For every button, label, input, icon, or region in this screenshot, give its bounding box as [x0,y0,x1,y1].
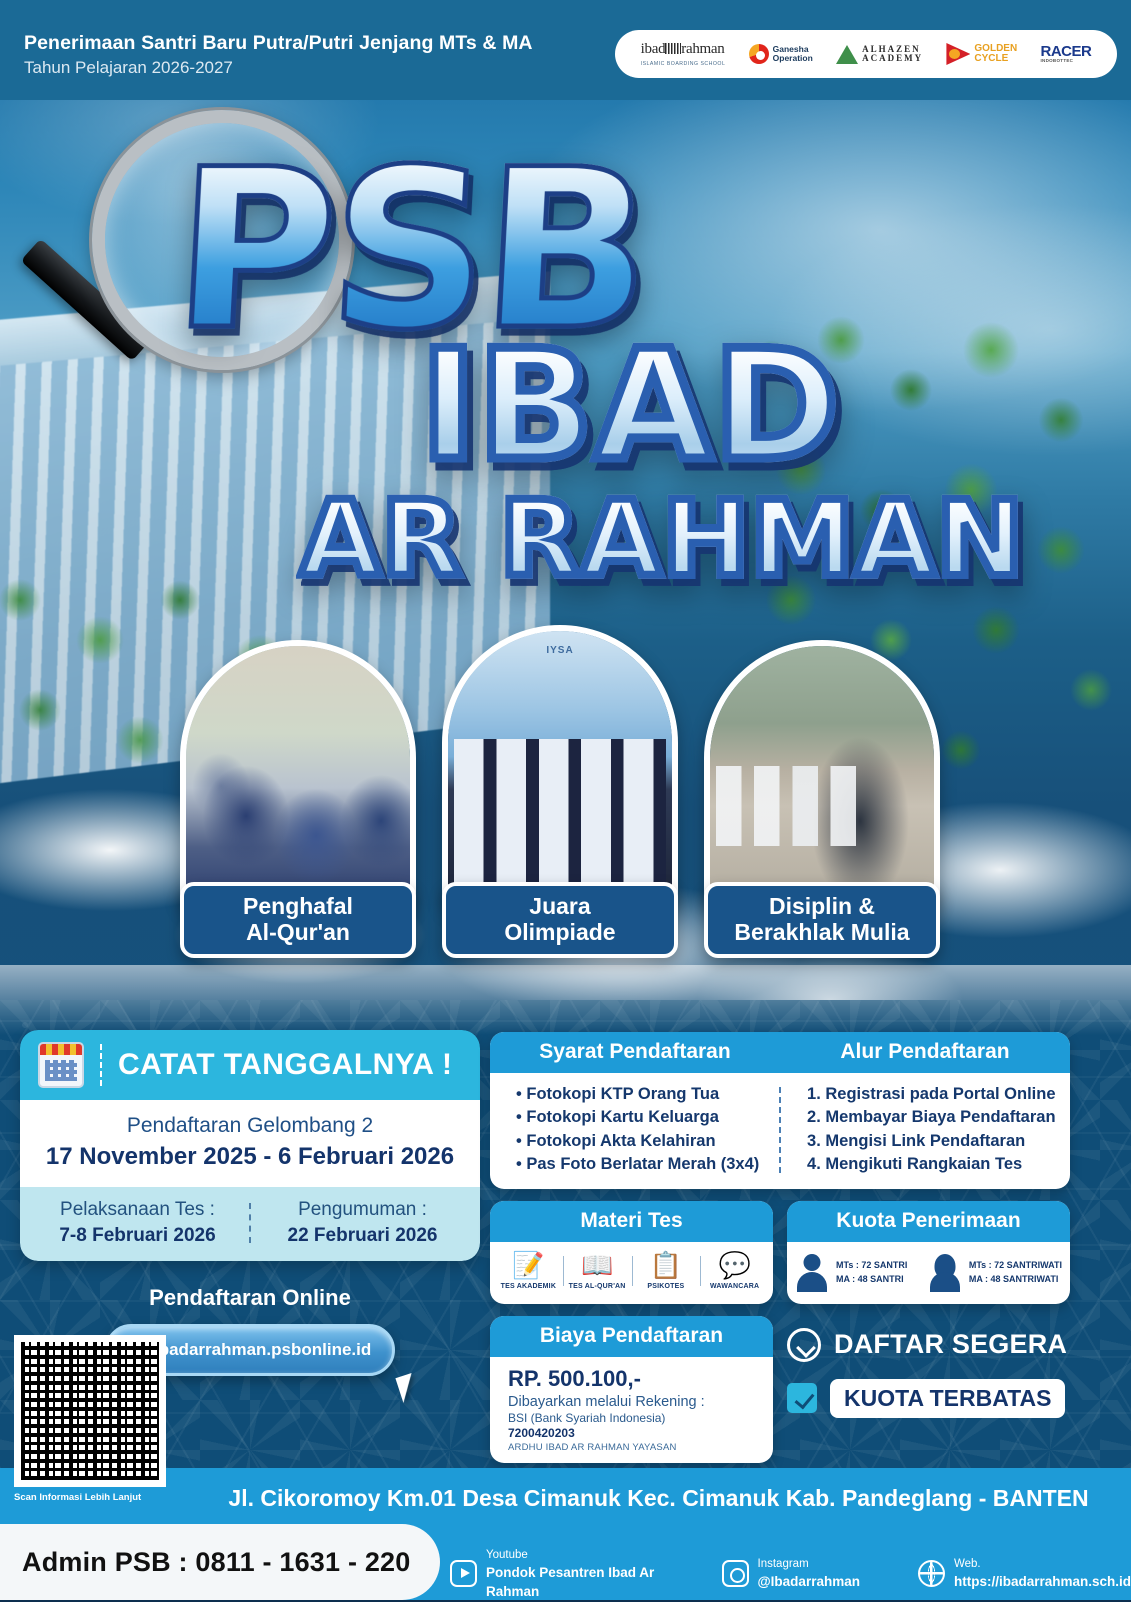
poster-root: Penerimaan Santri Baru Putra/Putri Jenja… [0,0,1131,1600]
youtube-icon [450,1560,477,1587]
male-avatar-icon [795,1254,829,1292]
biaya-pendaftaran-card: Biaya Pendaftaran RP. 500.100,- Dibayark… [490,1316,773,1463]
syarat-alur-card: Syarat Pendaftaran Alur Pendaftaran Foto… [490,1032,1070,1189]
logo-ibad-ar-rahman: ibadrahman ISLAMIC BOARDING SCHOOL [641,41,726,67]
header-subtitle: Tahun Pelajaran 2026-2027 [24,58,533,78]
syarat-alur-body: Fotokopi KTP Orang Tua Fotokopi Kartu Ke… [490,1073,1070,1189]
hero-arrahman-title: AR RAHMAN [300,487,1024,591]
kuota-putra-mts: MTs : 72 SANTRI [836,1260,907,1270]
social-value: Pondok Pesantren Ibad Ar Rahman [486,1565,654,1599]
social-label: Instagram [758,1558,809,1570]
logo-ibad-sub: ISLAMIC BOARDING SCHOOL [641,61,726,67]
logo-golden-sub: CYCLE [974,54,1017,64]
kuota-putri-mts: MTs : 72 SANTRIWATI [969,1260,1062,1270]
list-item: Fotokopi KTP Orang Tua [516,1083,779,1106]
gelombang-label: Pendaftaran Gelombang 2 [30,1114,470,1138]
biaya-via: Dibayarkan melalui Rekening : [508,1394,773,1410]
announcement-date: 22 Februari 2026 [251,1225,474,1247]
materi-tes-title: Materi Tes [490,1201,773,1242]
card-photo: IYSA [442,625,678,910]
card-caption: Disiplin & Berakhlak Mulia [704,882,940,958]
catat-schedule: Pelaksanaan Tes : 7-8 Februari 2026 Peng… [20,1187,480,1261]
social-youtube[interactable]: Youtube Pondok Pesantren Ibad Ar Rahman [450,1545,664,1602]
daftar-segera-label: DAFTAR SEGERA [834,1329,1067,1360]
quran-book-icon: 📖 [563,1252,632,1278]
logo-ibad-wordmark: ibadrahman [641,41,726,58]
catat-header: CATAT TANGGALNYA ! [20,1030,480,1100]
card-caption-line1: Penghafal [243,893,353,919]
card-photo [704,640,940,910]
materi-item-label: PSIKOTES [632,1283,701,1290]
materi-kuota-row: Materi Tes 📝 TES AKADEMIK 📖 TES AL-QUR'A… [490,1201,1070,1304]
announcement-schedule: Pengumuman : 22 Februari 2026 [251,1199,474,1247]
kuota-putri: MTs : 72 SANTRIWATI MA : 48 SANTRIWATI [928,1254,1062,1292]
instagram-icon [722,1560,749,1587]
daftar-segera-cta[interactable]: DAFTAR SEGERA [787,1328,1070,1362]
syarat-alur-header: Syarat Pendaftaran Alur Pendaftaran [490,1032,1070,1073]
catat-period: Pendaftaran Gelombang 2 17 November 2025… [20,1100,480,1187]
logo-alhazen-academy: ALHAZEN ACADEMY [836,45,923,64]
list-item: Registrasi pada Portal Online [807,1083,1070,1106]
calendar-icon [38,1042,84,1088]
highlight-card: IYSA Juara Olimpiade [442,625,678,958]
materi-item: 📋 PSIKOTES [632,1252,701,1290]
announcement-label: Pengumuman : [251,1199,474,1221]
qr-code-block: Scan Informasi Lebih Lanjut [14,1335,166,1503]
list-item: Fotokopi Kartu Keluarga [516,1106,779,1129]
test-label: Pelaksanaan Tes : [26,1199,249,1221]
alhazen-triangle-icon [836,45,858,64]
highlight-cards: Penghafal Al-Qur'an IYSA Juara Olimpiade… [180,640,940,1005]
list-item: Mengikuti Rangkaian Tes [807,1153,1070,1176]
qr-code[interactable] [14,1335,166,1487]
partner-logo-bar: ibadrahman ISLAMIC BOARDING SCHOOL Ganes… [615,30,1117,78]
kuota-title: Kuota Penerimaan [787,1201,1070,1242]
address-bar: Jl. Cikoromoy Km.01 Desa Cimanuk Kec. Ci… [0,1468,1131,1530]
right-info-column: Syarat Pendaftaran Alur Pendaftaran Foto… [490,1032,1070,1463]
materi-item: 📖 TES AL-QUR'AN [563,1252,632,1290]
biaya-body: RP. 500.100,- Dibayarkan melalui Rekenin… [490,1357,773,1463]
card-caption-line2: Berakhlak Mulia [734,919,909,945]
materi-item: 💬 WAWANCARA [700,1252,769,1290]
list-item: Mengisi Link Pendaftaran [807,1130,1070,1153]
syarat-list: Fotokopi KTP Orang Tua Fotokopi Kartu Ke… [490,1083,779,1177]
materi-tes-items: 📝 TES AKADEMIK 📖 TES AL-QUR'AN 📋 PSIKOTE… [490,1242,773,1298]
registration-url-text: ibadarrahman.psbonline.id [154,1340,371,1360]
biaya-title: Biaya Pendaftaran [490,1316,773,1357]
biaya-amount: RP. 500.100,- [508,1366,773,1392]
cta-column: DAFTAR SEGERA KUOTA TERBATAS [787,1316,1070,1463]
syarat-title: Syarat Pendaftaran [490,1040,780,1064]
highlight-card: Penghafal Al-Qur'an [180,640,416,958]
admin-contact-text: Admin PSB : 0811 - 1631 - 220 [22,1547,410,1578]
kuota-terbatas-label: KUOTA TERBATAS [830,1379,1065,1418]
interview-chat-icon: 💬 [700,1252,769,1278]
card-caption-line2: Olimpiade [504,919,615,945]
kuota-terbatas-cta: KUOTA TERBATAS [787,1379,1070,1418]
card-caption: Penghafal Al-Qur'an [180,882,416,958]
test-schedule: Pelaksanaan Tes : 7-8 Februari 2026 [26,1199,249,1247]
address-text: Jl. Cikoromoy Km.01 Desa Cimanuk Kec. Ci… [196,1485,1121,1512]
materi-item: 📝 TES AKADEMIK [494,1252,563,1290]
social-label: Youtube [486,1549,528,1561]
hero-ibad-title: IBAD [420,330,840,482]
materi-tes-card: Materi Tes 📝 TES AKADEMIK 📖 TES AL-QUR'A… [490,1201,773,1304]
female-avatar-icon [928,1254,962,1292]
ganesha-mark-icon [749,44,769,64]
list-item: Membayar Biaya Pendaftaran [807,1106,1070,1129]
chevron-down-icon [787,1328,821,1362]
biaya-bank: BSI (Bank Syariah Indonesia) [508,1411,773,1425]
social-links: Youtube Pondok Pesantren Ibad Ar Rahman … [450,1545,1131,1602]
kuota-body: MTs : 72 SANTRI MA : 48 SANTRI MTs : 72 … [787,1242,1070,1304]
alur-title: Alur Pendaftaran [780,1040,1070,1064]
card-caption-line2: Al-Qur'an [246,919,350,945]
logo-alhazen-sub: ACADEMY [862,53,923,63]
kuota-penerimaan-card: Kuota Penerimaan MTs : 72 SANTRI MA : 48… [787,1201,1070,1304]
materi-item-label: TES AKADEMIK [494,1283,563,1290]
qr-caption: Scan Informasi Lebih Lanjut [14,1492,166,1503]
card-photo [180,640,416,910]
kuota-putri-ma: MA : 48 SANTRIWATI [969,1274,1059,1284]
globe-icon [918,1560,945,1587]
logo-racer: RACER INDOBOTTEC [1040,44,1091,64]
clipboard-psychology-icon: 📋 [632,1252,701,1278]
divider [100,1044,102,1086]
qr-code-image [21,1342,159,1480]
social-web[interactable]: Web. https://ibadarrahman.sch.id [918,1554,1131,1592]
materi-item-label: WAWANCARA [700,1283,769,1290]
social-value: @Ibadarrahman [758,1574,860,1589]
card-caption-line1: Juara [529,893,590,919]
alur-list: Registrasi pada Portal Online Membayar B… [781,1083,1070,1177]
list-item: Pas Foto Berlatar Merah (3x4) [516,1153,779,1176]
biaya-atas-nama: ARDHU IBAD AR RAHMAN YAYASAN [508,1442,773,1453]
materi-item-label: TES AL-QUR'AN [563,1283,632,1290]
card-caption-line1: Disiplin & [769,893,875,919]
top-header-bar: Penerimaan Santri Baru Putra/Putri Jenja… [0,0,1131,100]
logo-ganesha-sub: Operation [773,53,813,63]
pendaftaran-online-title: Pendaftaran Online [20,1285,480,1311]
header-title: Penerimaan Santri Baru Putra/Putri Jenja… [24,32,533,55]
test-date: 7-8 Februari 2026 [26,1225,249,1247]
social-value: https://ibadarrahman.sch.id [954,1574,1131,1589]
biaya-rekening: 7200420203 [508,1426,773,1440]
biaya-cta-row: Biaya Pendaftaran RP. 500.100,- Dibayark… [490,1316,1070,1463]
kuota-putra: MTs : 72 SANTRI MA : 48 SANTRI [795,1254,928,1292]
left-info-column: CATAT TANGGALNYA ! Pendaftaran Gelombang… [20,1030,480,1376]
social-label: Web. [954,1558,981,1570]
check-box-icon [787,1383,817,1413]
card-caption: Juara Olimpiade [442,882,678,958]
logo-ganesha-operation: Ganesha Operation [749,44,813,64]
catat-tanggal-card: CATAT TANGGALNYA ! Pendaftaran Gelombang… [20,1030,480,1261]
iysa-banner-text: IYSA [546,645,573,656]
highlight-card: Disiplin & Berakhlak Mulia [704,640,940,958]
gelombang-dates: 17 November 2025 - 6 Februari 2026 [30,1143,470,1171]
social-instagram[interactable]: Instagram @Ibadarrahman [722,1554,860,1592]
admin-contact-pill: Admin PSB : 0811 - 1631 - 220 [0,1524,440,1600]
catat-title: CATAT TANGGALNYA ! [118,1048,452,1082]
logo-golden-cycle: GOLDEN CYCLE [946,43,1017,65]
document-test-icon: 📝 [494,1252,563,1278]
logo-barcode-mark [665,43,681,54]
header-titles: Penerimaan Santri Baru Putra/Putri Jenja… [24,32,533,78]
kuota-putra-ma: MA : 48 SANTRI [836,1274,904,1284]
list-item: Fotokopi Akta Kelahiran [516,1130,779,1153]
golden-cycle-mark-icon [946,43,970,65]
